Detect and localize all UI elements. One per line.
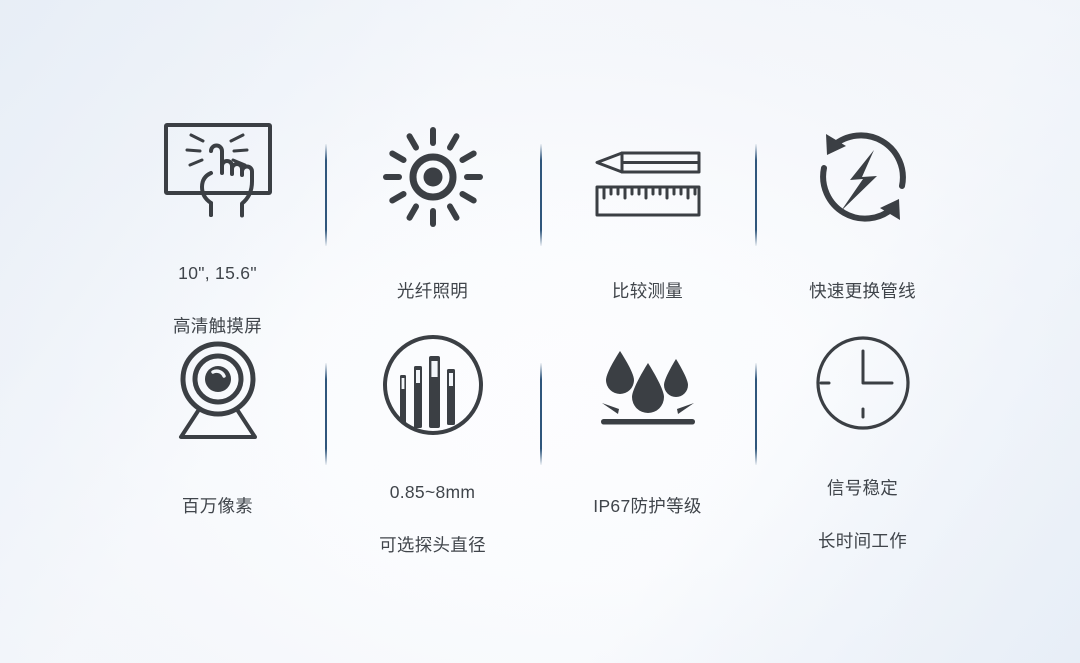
feature-caption: 比较测量 — [612, 252, 683, 331]
caption-line: IP67防护等级 — [593, 493, 701, 519]
probe-bars-circle-icon — [381, 333, 485, 437]
caption-line: 光纤照明 — [397, 278, 468, 304]
pencil-ruler-icon — [591, 118, 705, 236]
feature-caption: 光纤照明 — [397, 252, 468, 331]
caption-line: 信号稳定 — [818, 475, 907, 501]
feature-caption: 0.85~8mm 可选探头直径 — [379, 453, 486, 584]
webcam-icon — [165, 333, 271, 451]
feature-caption: 信号稳定 长时间工作 — [818, 449, 907, 580]
feature-caption: IP67防护等级 — [593, 467, 701, 546]
feature-item-quick-change-tube[interactable]: 快速更换管线 — [755, 118, 970, 333]
feature-row-2: 百万像素 — [110, 333, 970, 548]
feature-item-megapixel[interactable]: 百万像素 — [110, 333, 325, 548]
caption-line: 比较测量 — [612, 278, 683, 304]
feature-grid: 10", 15.6" 高清触摸屏 — [110, 118, 970, 548]
water-drops-icon — [593, 333, 703, 451]
clock-icon — [813, 333, 913, 433]
feature-item-fiber-lighting[interactable]: 光纤照明 — [325, 118, 540, 333]
touch-screen-icon — [159, 118, 277, 218]
sun-icon — [381, 118, 485, 236]
caption-line: 快速更换管线 — [809, 278, 916, 304]
caption-line: 0.85~8mm — [379, 479, 486, 505]
caption-line: 10", 15.6" — [173, 260, 262, 286]
feature-item-ip67[interactable]: IP67防护等级 — [540, 333, 755, 548]
feature-caption: 百万像素 — [182, 467, 253, 546]
feature-item-comparative-measurement[interactable]: 比较测量 — [540, 118, 755, 333]
caption-line: 可选探头直径 — [379, 532, 486, 558]
feature-item-touchscreen[interactable]: 10", 15.6" 高清触摸屏 — [110, 118, 325, 333]
feature-item-stable-signal[interactable]: 信号稳定 长时间工作 — [755, 333, 970, 548]
refresh-lightning-icon — [810, 118, 916, 236]
caption-line: 长时间工作 — [818, 528, 907, 554]
caption-line: 百万像素 — [182, 493, 253, 519]
feature-item-probe-diameter[interactable]: 0.85~8mm 可选探头直径 — [325, 333, 540, 548]
feature-row-1: 10", 15.6" 高清触摸屏 — [110, 118, 970, 333]
feature-caption: 快速更换管线 — [809, 252, 916, 331]
